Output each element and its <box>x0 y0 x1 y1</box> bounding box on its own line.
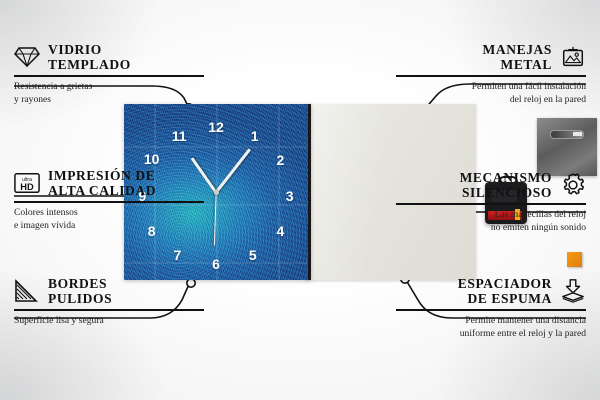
feature-espaciador-espuma: ESPACIADOR DE ESPUMA Permite mantener un… <box>396 276 586 340</box>
feature-title-line2: SILENCIOSO <box>462 185 552 200</box>
wall-hanger-icon <box>560 44 586 70</box>
metal-hanger-plate <box>537 118 597 176</box>
clock-numeral: 4 <box>276 223 284 239</box>
polished-edge-icon <box>14 278 40 304</box>
svg-text:HD: HD <box>20 182 34 192</box>
clock-numeral: 7 <box>173 247 181 263</box>
feature-divider <box>396 203 586 205</box>
feature-title-line1: VIDRIO <box>48 42 102 57</box>
feature-desc-line2: e imagen vívida <box>14 220 75 231</box>
feature-desc-line1: Permiten una fácil instalación <box>472 81 586 92</box>
feature-vidrio-templado: VIDRIO TEMPLADO Resistencia a grietas y … <box>14 42 204 106</box>
feature-title-line2: PULIDOS <box>48 291 112 306</box>
feature-divider <box>396 309 586 311</box>
ultra-hd-icon: ultra HD <box>14 170 40 196</box>
feature-title-line1: BORDES <box>48 276 107 291</box>
clock-center-cap <box>214 190 219 195</box>
foam-spacer <box>567 252 582 267</box>
clock-numeral: 6 <box>212 256 220 272</box>
feature-desc-line2: del reloj en la pared <box>510 94 586 105</box>
feature-desc-line1: Colores intensos <box>14 207 78 218</box>
clock-numeral: 10 <box>144 151 160 167</box>
feature-title-line1: ESPACIADOR <box>458 276 552 291</box>
feature-desc-line1: Superficie lisa y segura <box>14 315 104 326</box>
feature-desc-line1: Resistencia a grietas <box>14 81 92 92</box>
clock-numeral: 11 <box>172 128 187 144</box>
feature-title-line1: IMPRESIÓN DE <box>48 168 155 183</box>
feature-title-line2: METAL <box>500 57 552 72</box>
infographic-canvas: 12 1 2 3 4 5 6 7 8 9 10 11 VIDRIO TEMPLA <box>0 0 600 400</box>
hanger-slot <box>550 130 584 139</box>
feature-title-line1: MANEJAS <box>483 42 552 57</box>
feature-title-line2: TEMPLADO <box>48 57 131 72</box>
feature-title-line2: ALTA CALIDAD <box>48 183 156 198</box>
feature-manejas-metal: MANEJAS METAL Permiten una fácil instala… <box>396 42 586 106</box>
feature-divider <box>14 201 204 203</box>
feature-mecanismo-silencioso: MECANISMO SILENCIOSO Las manecillas del … <box>396 170 586 234</box>
clock-numeral: 1 <box>251 128 259 144</box>
feature-desc-line2: uniforme entre el reloj y la pared <box>460 328 586 339</box>
feature-desc-line1: Las manecillas del reloj <box>495 209 586 220</box>
feature-bordes-pulidos: BORDES PULIDOS Superficie lisa y segura <box>14 276 204 328</box>
feature-desc-line1: Permite mantener una distancia <box>465 315 586 326</box>
feature-divider <box>14 309 204 311</box>
feature-divider <box>396 75 586 77</box>
feature-title-line1: MECANISMO <box>460 170 552 185</box>
clock-numeral: 2 <box>276 152 284 168</box>
press-down-icon <box>560 278 586 304</box>
clock-numeral: 12 <box>208 119 224 135</box>
feature-title-line2: DE ESPUMA <box>467 291 552 306</box>
feature-desc-line2: no emiten ningún sonido <box>491 222 586 233</box>
clock-numeral: 3 <box>286 188 294 204</box>
clock-numeral: 5 <box>249 247 257 263</box>
feature-desc-line2: y rayones <box>14 94 51 105</box>
diamond-icon <box>14 44 40 70</box>
feature-impresion-alta-calidad: ultra HD IMPRESIÓN DE ALTA CALIDAD Color… <box>14 168 204 232</box>
gear-icon <box>560 172 586 198</box>
feature-divider <box>14 75 204 77</box>
